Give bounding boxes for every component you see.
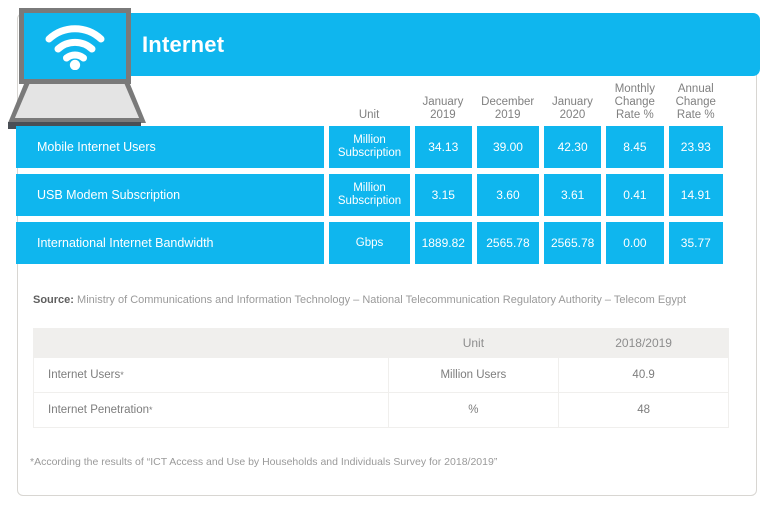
cell-value: 40.9 <box>559 358 728 392</box>
header-period: 2018/2019 <box>559 329 728 357</box>
cell-dec2019: 39.00 <box>477 126 539 168</box>
header-january-2019-line2: 2019 <box>414 109 471 122</box>
cell-unit: Million Users <box>389 358 559 392</box>
header-january-2019-line1: January <box>414 96 471 109</box>
internet-survey-table: Unit 2018/2019 Internet Users* Million U… <box>33 328 729 428</box>
cell-jan2020: 2565.78 <box>544 222 601 264</box>
cell-jan2019: 1889.82 <box>415 222 472 264</box>
cell-monthly-change: 0.00 <box>606 222 663 264</box>
cell-value: 48 <box>559 393 728 427</box>
cell-dec2019: 2565.78 <box>477 222 539 264</box>
row-label-text: Internet Users <box>48 369 120 381</box>
cell-monthly-change: 0.41 <box>606 174 663 216</box>
header-monthly-line2: Change <box>606 96 663 109</box>
row-unit: Million Subscription <box>329 126 409 168</box>
source-label: Source: <box>33 294 74 306</box>
row-label-usb-modem-subscription: USB Modem Subscription <box>16 174 324 216</box>
page-title: Internet <box>142 32 224 58</box>
header-monthly-line3: Rate % <box>606 109 663 122</box>
internet-indicators-table: Unit January 2019 December 2019 January … <box>16 72 723 270</box>
row-label-internet-users: Internet Users* <box>34 358 388 392</box>
row-unit: Million Subscription <box>329 174 409 216</box>
row-label-internet-penetration: Internet Penetration* <box>34 393 388 427</box>
header-annual-line2: Change <box>669 96 724 109</box>
header-annual-line1: Annual <box>669 83 724 96</box>
header-indicator <box>34 329 388 357</box>
header-annual-change-rate: Annual Change Rate % <box>669 83 724 124</box>
cell-jan2019: 3.15 <box>415 174 472 216</box>
footnote: *According the results of “ICT Access an… <box>30 456 497 468</box>
header-december-2019: December 2019 <box>477 96 539 124</box>
cell-jan2019: 34.13 <box>415 126 472 168</box>
wifi-icon <box>45 24 105 70</box>
header-annual-line3: Rate % <box>669 109 724 122</box>
row-unit-line1: Gbps <box>356 237 384 250</box>
cell-annual-change: 35.77 <box>669 222 723 264</box>
table-row: Internet Penetration* % 48 <box>34 393 728 427</box>
laptop-screen <box>24 13 126 79</box>
cell-dec2019: 3.60 <box>477 174 539 216</box>
source-line: Source: Ministry of Communications and I… <box>33 294 686 306</box>
row-unit-line2: Subscription <box>338 147 401 160</box>
header-december-2019-line1: December <box>477 96 539 109</box>
row-unit: Gbps <box>329 222 409 264</box>
row-label-text: Internet Penetration <box>48 404 149 416</box>
source-text: Ministry of Communications and Informati… <box>77 294 686 306</box>
row-unit-line2: Subscription <box>338 195 401 208</box>
cell-annual-change: 14.91 <box>669 174 723 216</box>
footnote-marker: * <box>120 370 124 380</box>
cell-jan2020: 42.30 <box>544 126 601 168</box>
header-january-2020-line2: 2020 <box>544 109 601 122</box>
header-unit: Unit <box>329 109 409 124</box>
row-unit-line1: Million <box>338 182 401 195</box>
cell-monthly-change: 8.45 <box>606 126 663 168</box>
table-row: International Internet Bandwidth Gbps 18… <box>16 222 723 264</box>
header-monthly-change-rate: Monthly Change Rate % <box>606 83 663 124</box>
header-december-2019-line2: 2019 <box>477 109 539 122</box>
section-header: Internet <box>123 13 760 76</box>
cell-jan2020: 3.61 <box>544 174 601 216</box>
header-unit: Unit <box>389 329 559 357</box>
table-header-row: Unit January 2019 December 2019 January … <box>16 72 723 124</box>
footnote-marker: * <box>149 405 153 415</box>
table-header-row: Unit 2018/2019 <box>34 329 728 357</box>
header-january-2019: January 2019 <box>414 96 471 124</box>
cell-unit: % <box>389 393 559 427</box>
row-label-international-internet-bandwidth: International Internet Bandwidth <box>16 222 324 264</box>
header-january-2020: January 2020 <box>544 96 601 124</box>
row-unit-line1: Million <box>338 134 401 147</box>
cell-annual-change: 23.93 <box>669 126 723 168</box>
page-root: Internet Unit January 2019 <box>0 0 775 509</box>
table-row: Internet Users* Million Users 40.9 <box>34 358 728 392</box>
row-label-mobile-internet-users: Mobile Internet Users <box>16 126 324 168</box>
header-january-2020-line1: January <box>544 96 601 109</box>
header-monthly-line1: Monthly <box>606 83 663 96</box>
table-row: USB Modem Subscription Million Subscript… <box>16 174 723 216</box>
table-row: Mobile Internet Users Million Subscripti… <box>16 126 723 168</box>
